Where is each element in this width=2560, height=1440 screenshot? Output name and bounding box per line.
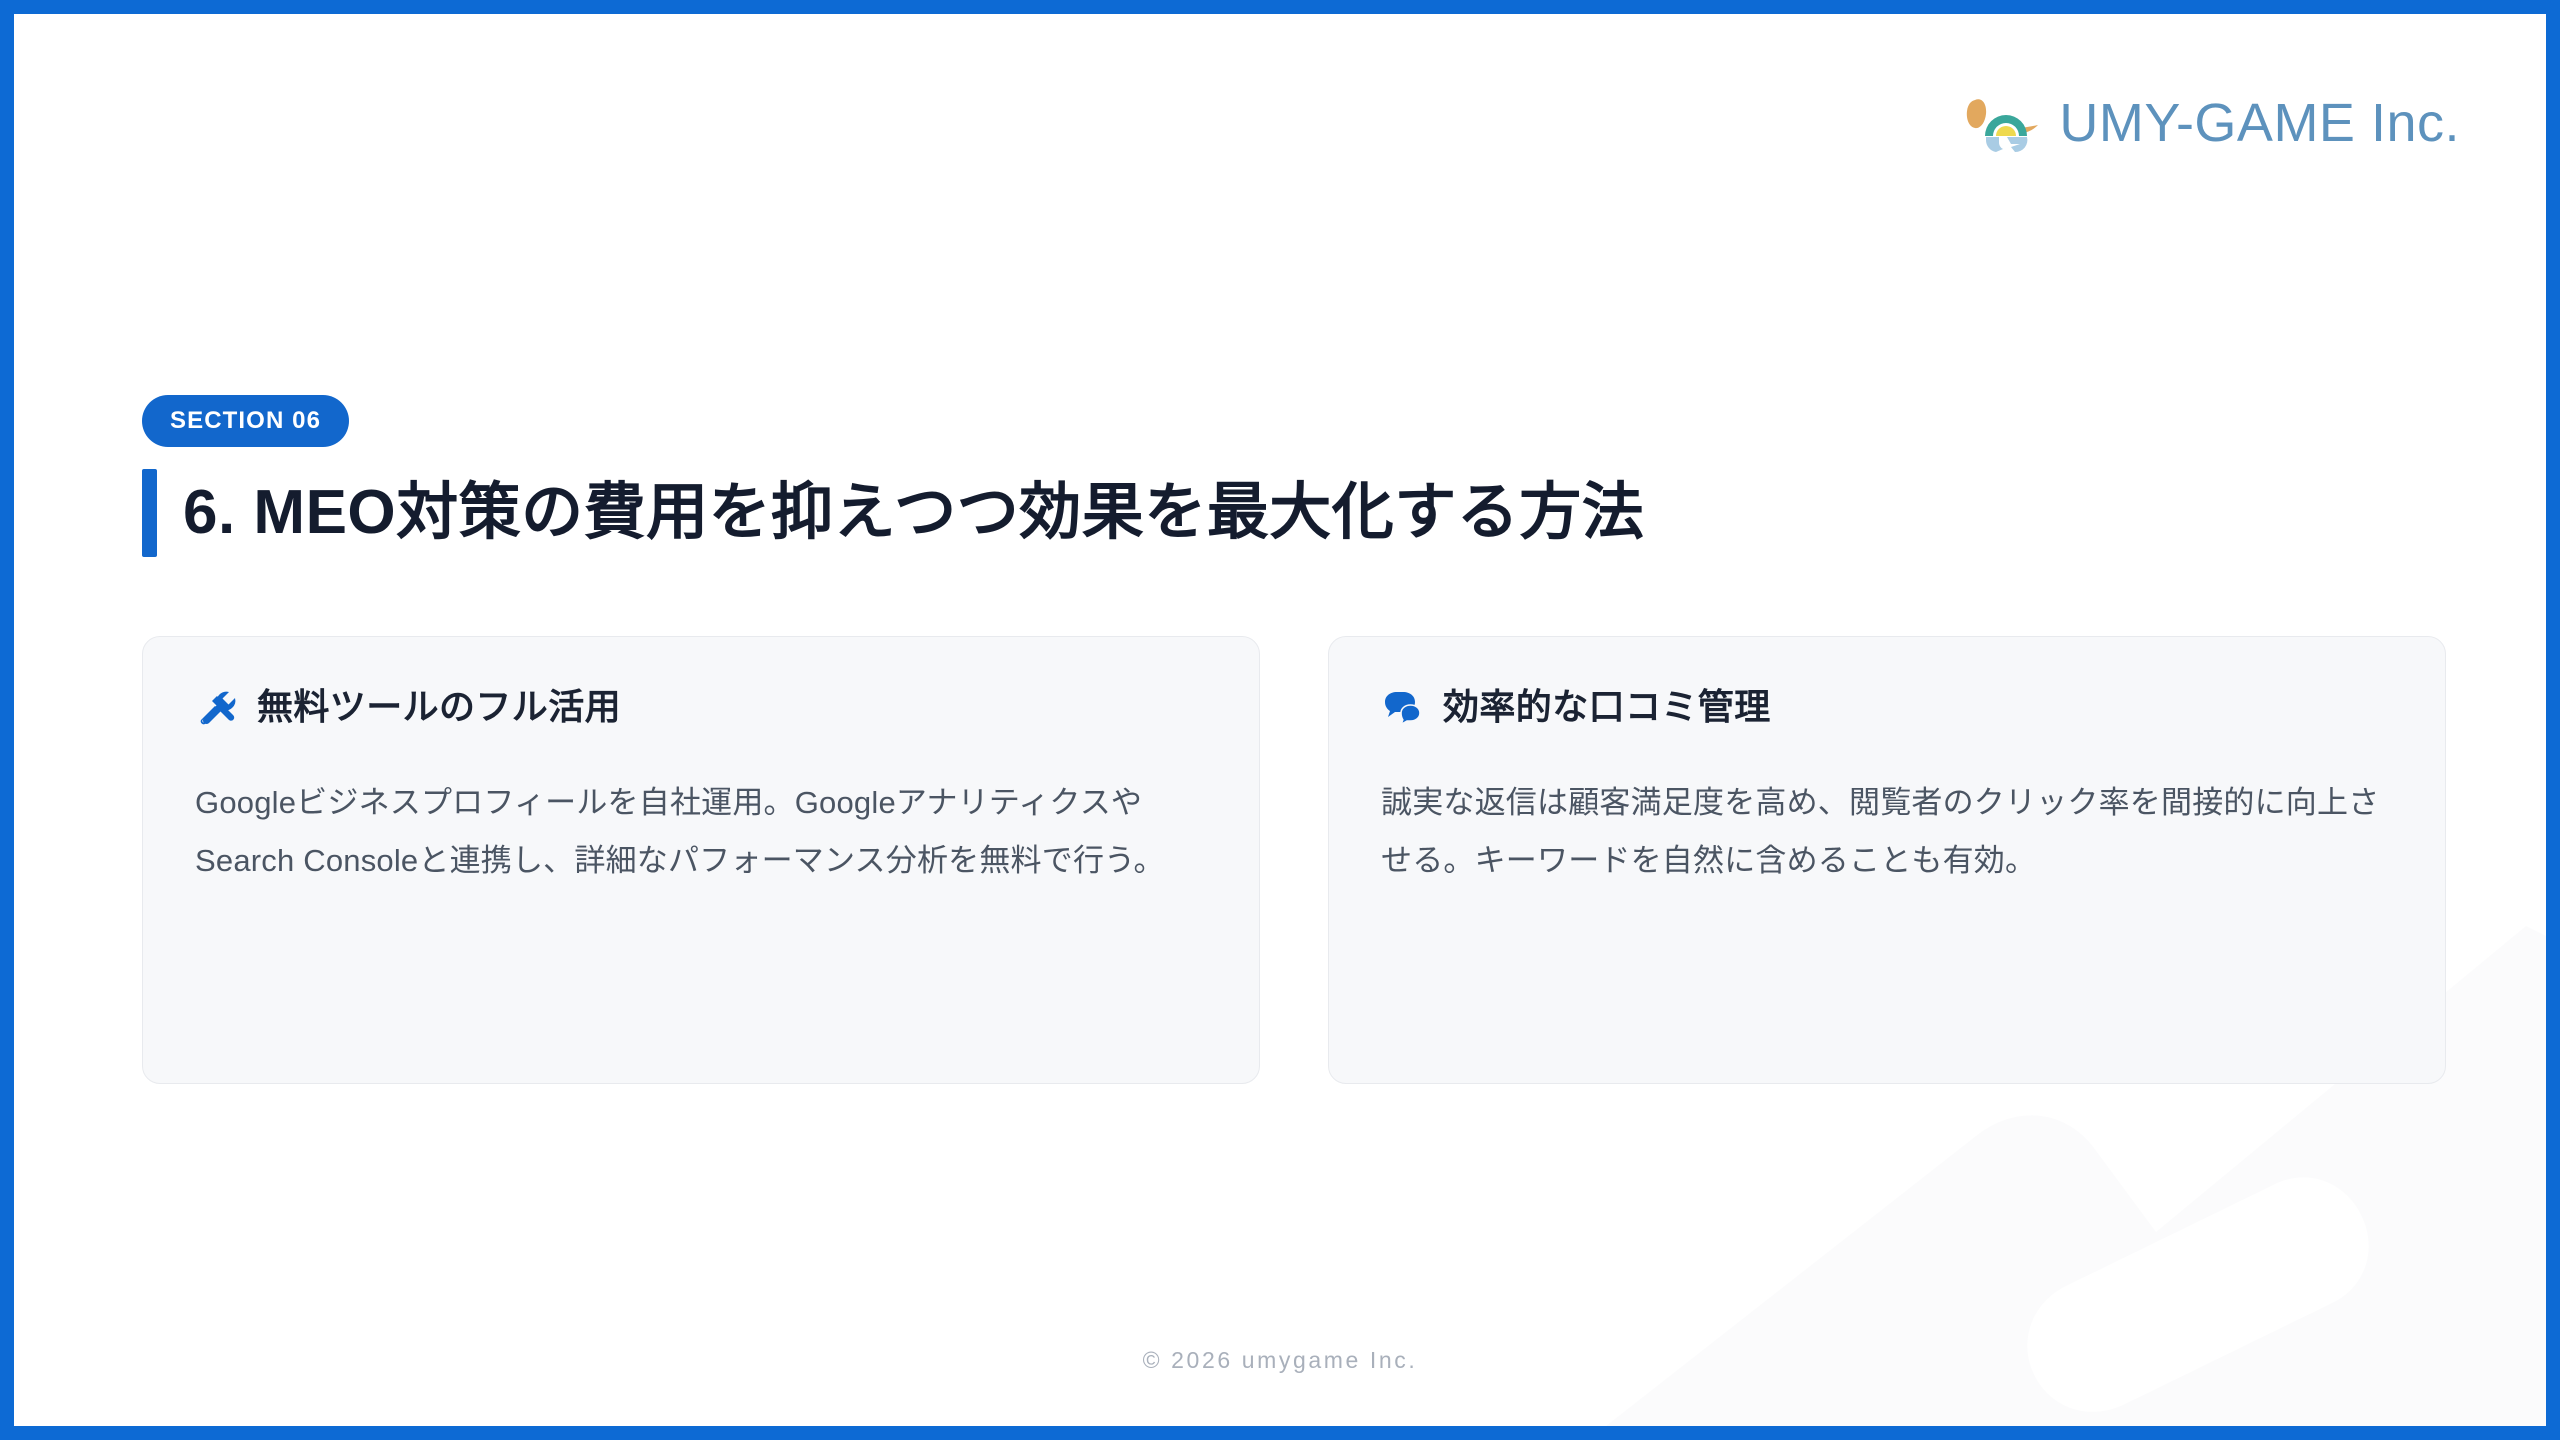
footer-copyright: © 2026 umygame Inc. xyxy=(14,1347,2546,1374)
card-header: 無料ツールのフル活用 xyxy=(195,685,1207,728)
page-title: 6. MEO対策の費用を抑えつつ効果を最大化する方法 xyxy=(142,469,1644,557)
speech-bubbles-icon xyxy=(1381,686,1423,728)
card-header: 効率的な口コミ管理 xyxy=(1381,685,2393,728)
card-body-text: 誠実な返信は顧客満足度を高め、閲覧者のクリック率を間接的に向上させる。キーワード… xyxy=(1381,774,2393,889)
card-body-text: Googleビジネスプロフィールを自社運用。GoogleアナリティクスやSear… xyxy=(195,774,1207,889)
page-title-text: 6. MEO対策の費用を抑えつつ効果を最大化する方法 xyxy=(183,469,1644,557)
hammer-and-wrench-icon xyxy=(195,686,237,728)
slide-canvas: UMY-GAME Inc. SECTION 06 6. MEO対策の費用を抑えつ… xyxy=(0,0,2560,1440)
card-grid: 無料ツールのフル活用 Googleビジネスプロフィールを自社運用。Googleア… xyxy=(142,636,2446,1084)
brand-logo-text: UMY-GAME Inc. xyxy=(2059,92,2460,154)
brand-logo: UMY-GAME Inc. xyxy=(1963,92,2460,154)
section-badge: SECTION 06 xyxy=(142,395,349,447)
card-free-tools: 無料ツールのフル活用 Googleビジネスプロフィールを自社運用。Googleア… xyxy=(142,636,1260,1084)
card-title: 無料ツールのフル活用 xyxy=(257,685,621,728)
card-title: 効率的な口コミ管理 xyxy=(1443,685,1771,728)
title-accent-bar xyxy=(142,469,157,557)
card-review-management: 効率的な口コミ管理 誠実な返信は顧客満足度を高め、閲覧者のクリック率を間接的に向… xyxy=(1328,636,2446,1084)
umygame-logo-mark-icon xyxy=(1963,92,2041,154)
